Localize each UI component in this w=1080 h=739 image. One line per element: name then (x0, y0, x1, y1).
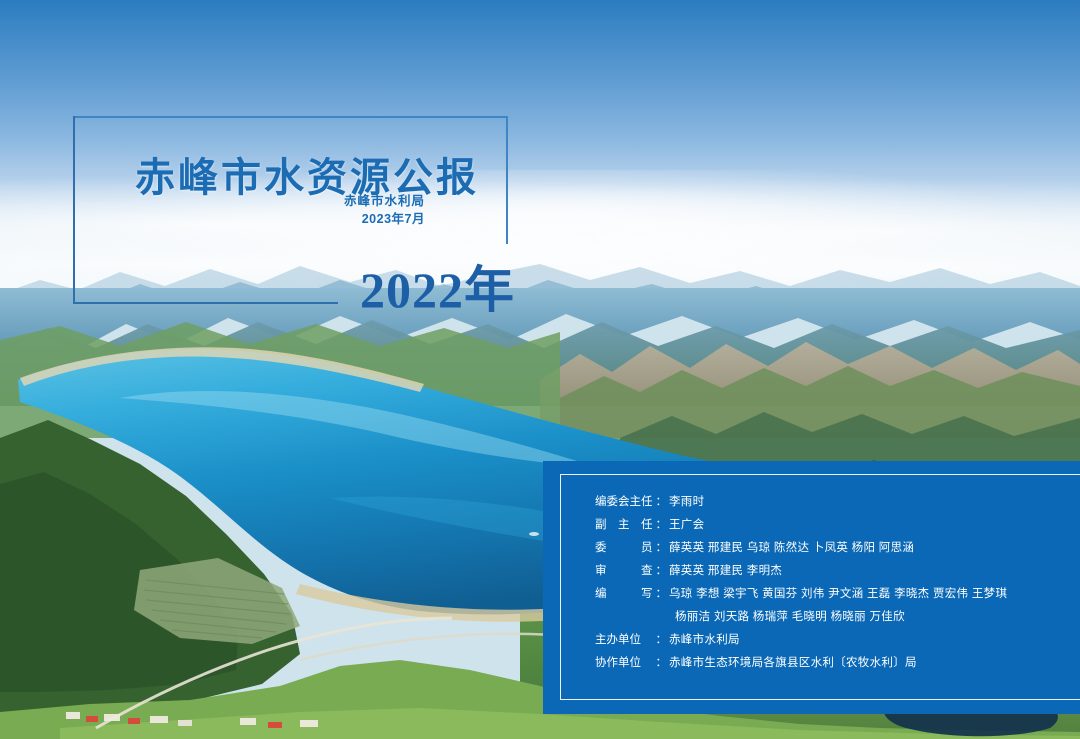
credit-label: 编 写： (595, 583, 669, 606)
credit-row: 编 写：乌琼 李想 梁宇飞 黄国芬 刘伟 尹文涵 王磊 李晓杰 贾宏伟 王梦琪 (595, 583, 1070, 606)
credits-list: 编委会主任：李雨时副 主 任：王广会委 员：薛英英 邢建民 乌琼 陈然达 卜凤英… (595, 491, 1070, 675)
credit-label-text: 协作单位 (595, 652, 641, 675)
credit-label-colon: ： (656, 537, 668, 560)
credit-value: 薛英英 邢建民 李明杰 (669, 560, 782, 583)
title-frame-top-line (73, 116, 508, 118)
title-frame-right-line (506, 116, 508, 244)
credit-row: 编委会主任：李雨时 (595, 491, 1070, 514)
credit-row: 主办单位：赤峰市水利局 (595, 629, 1070, 652)
credit-label-text: 编 写 (595, 583, 653, 606)
credit-label-colon: ： (656, 652, 668, 675)
credit-label-colon: ： (656, 491, 668, 514)
report-year: 2022年 (360, 250, 515, 322)
credit-label: 主办单位： (595, 629, 669, 652)
credit-row: 审 查：薛英英 邢建民 李明杰 (595, 560, 1070, 583)
credit-label: 审 查： (595, 560, 669, 583)
credit-value: 赤峰市水利局 (669, 629, 740, 652)
credit-label-colon: ： (656, 583, 668, 606)
credit-label-text: 编委会主任 (595, 491, 653, 514)
credit-value: 王广会 (669, 514, 704, 537)
credit-row: 协作单位：赤峰市生态环境局各旗县区水利〔农牧水利〕局 (595, 652, 1070, 675)
title-frame-left-line (73, 116, 75, 304)
credit-row: 副 主 任：王广会 (595, 514, 1070, 537)
credit-label: 协作单位： (595, 652, 669, 675)
publication-date: 2023年7月 (205, 210, 425, 228)
credit-label-colon: ： (656, 514, 668, 537)
credit-label-text: 副 主 任 (595, 514, 653, 537)
credit-value: 李雨时 (669, 491, 704, 514)
credit-value: 薛英英 邢建民 乌琼 陈然达 卜凤英 杨阳 阿思涵 (669, 537, 914, 560)
credit-label-text: 审 查 (595, 560, 653, 583)
credit-label-text: 主办单位 (595, 629, 641, 652)
cover-page: 赤峰市水资源公报 赤峰市水利局 2023年7月 2022年 编委会主任：李雨时副… (0, 0, 1080, 739)
credit-label: 委 员： (595, 537, 669, 560)
credit-row: 委 员：薛英英 邢建民 乌琼 陈然达 卜凤英 杨阳 阿思涵 (595, 537, 1070, 560)
credit-label-colon: ： (656, 629, 668, 652)
title-frame-bottom-line (73, 302, 338, 304)
editorial-credits-panel: 编委会主任：李雨时副 主 任：王广会委 员：薛英英 邢建民 乌琼 陈然达 卜凤英… (543, 461, 1080, 714)
issuing-organization: 赤峰市水利局 (205, 192, 425, 210)
credit-value: 乌琼 李想 梁宇飞 黄国芬 刘伟 尹文涵 王磊 李晓杰 贾宏伟 王梦琪 (669, 583, 1007, 606)
credit-value: 杨丽洁 刘天路 杨瑞萍 毛晓明 杨晓丽 万佳欣 (675, 606, 905, 629)
credit-row: 杨丽洁 刘天路 杨瑞萍 毛晓明 杨晓丽 万佳欣 (595, 606, 1070, 629)
credit-label: 副 主 任： (595, 514, 669, 537)
credit-value: 赤峰市生态环境局各旗县区水利〔农牧水利〕局 (669, 652, 917, 675)
credit-label: 编委会主任： (595, 491, 669, 514)
credit-label-colon: ： (656, 560, 668, 583)
title-subtitle-block: 赤峰市水利局 2023年7月 (205, 192, 425, 228)
credit-label-text: 委 员 (595, 537, 653, 560)
